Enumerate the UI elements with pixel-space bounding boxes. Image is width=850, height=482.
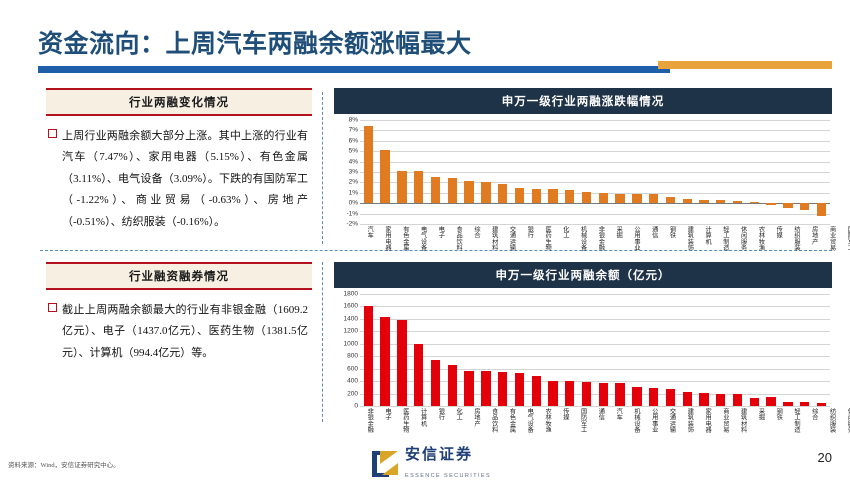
x-axis-tick: 商业贸易 xyxy=(716,408,734,456)
x-axis-tick-label: 交通运输 xyxy=(668,408,675,456)
x-axis-tick: 纺织服装 xyxy=(822,408,840,456)
bar-slot xyxy=(763,120,780,224)
bar xyxy=(683,392,692,406)
bar xyxy=(666,389,675,406)
bar-slot xyxy=(494,294,511,406)
bar xyxy=(532,189,541,203)
bar xyxy=(783,203,792,208)
bar-slot xyxy=(780,294,797,406)
square-bullet-icon xyxy=(48,129,62,233)
x-axis-tick: 轻工制造 xyxy=(787,408,805,456)
bar xyxy=(565,381,574,406)
bar xyxy=(414,344,423,406)
bar-slot xyxy=(578,120,595,224)
bar xyxy=(498,184,507,203)
y-axis-tick: 0% xyxy=(349,200,358,207)
y-axis-tick: 4% xyxy=(349,158,358,165)
y-axis-tick: 1% xyxy=(349,189,358,196)
chart-change-bars xyxy=(360,120,830,224)
bar-slot xyxy=(612,294,629,406)
bar xyxy=(548,381,557,406)
vertical-divider-top xyxy=(322,92,323,244)
bar xyxy=(817,403,826,406)
x-axis-tick: 传媒 xyxy=(556,408,574,456)
bar-slot xyxy=(679,294,696,406)
chart-balance: 申万一级行业两融余额（亿元） 1800160014001200100080060… xyxy=(334,262,832,456)
y-axis-tick: -1% xyxy=(346,210,358,217)
title-underline-blue xyxy=(38,66,670,73)
x-axis-tick-label: 有色金属 xyxy=(508,408,515,456)
x-axis-tick: 建筑材料 xyxy=(733,408,751,456)
bar-slot xyxy=(796,294,813,406)
bar-slot xyxy=(712,120,729,224)
slide-root: 资金流向：上周汽车两融余额涨幅最大 行业两融变化情况 上周行业两融余额大部分上涨… xyxy=(0,0,850,478)
x-axis-tick: 机械设备 xyxy=(627,408,645,456)
bar xyxy=(532,376,541,406)
bar-slot xyxy=(763,294,780,406)
bar-slot xyxy=(813,294,830,406)
x-axis-tick-label: 公用事业 xyxy=(650,408,657,456)
bar xyxy=(766,203,775,205)
bar-slot xyxy=(662,120,679,224)
vertical-divider-bottom xyxy=(322,262,323,422)
bar-slot xyxy=(360,120,377,224)
bar-slot xyxy=(394,294,411,406)
bar xyxy=(599,193,608,203)
bar xyxy=(683,199,692,203)
x-axis-tick-label: 家用电器 xyxy=(703,408,710,456)
x-axis-tick: 国防军工 xyxy=(573,408,591,456)
bar-slot xyxy=(696,120,713,224)
bar xyxy=(464,371,473,406)
chart-change-title: 申万一级行业两融涨跌幅情况 xyxy=(334,88,832,114)
bar-slot xyxy=(696,294,713,406)
chart-balance-title: 申万一级行业两融余额（亿元） xyxy=(334,262,832,288)
x-axis-tick-label: 通信 xyxy=(597,408,604,456)
bar-slot xyxy=(394,120,411,224)
bar xyxy=(632,387,641,406)
bar-slot xyxy=(410,294,427,406)
bar-slot xyxy=(780,120,797,224)
y-axis-tick: -2% xyxy=(346,221,358,228)
bar xyxy=(515,373,524,406)
page-title: 资金流向：上周汽车两融余额涨幅最大 xyxy=(38,24,472,60)
company-logo: 安信证券 ESSENCE SECURITIES xyxy=(372,446,491,482)
x-axis-tick-label: 农林牧渔 xyxy=(543,408,550,456)
bar-slot xyxy=(561,294,578,406)
bar xyxy=(582,192,591,203)
bar xyxy=(599,383,608,406)
chart-balance-yaxis: 180016001400120010008006004002000 xyxy=(334,294,360,406)
x-axis-tick-label: 国防军工 xyxy=(579,408,586,456)
bar-slot xyxy=(645,120,662,224)
x-axis-tick: 综合 xyxy=(805,408,823,456)
chart-change-plot: 8%7%6%5%4%3%2%1%0%-1%-2% xyxy=(334,120,832,224)
x-axis-tick-label: 休闲服务 xyxy=(846,408,850,456)
essence-logo-icon xyxy=(372,451,398,477)
x-axis-tick-label: 纺织服装 xyxy=(828,408,835,456)
x-axis-tick: 通信 xyxy=(591,408,609,456)
bar-slot xyxy=(662,294,679,406)
bar xyxy=(716,394,725,406)
bar-slot xyxy=(360,294,377,406)
bar-slot xyxy=(578,294,595,406)
y-axis-tick: 600 xyxy=(347,365,358,372)
bar xyxy=(716,200,725,203)
bar-slot xyxy=(511,294,528,406)
chart-balance-plot: 180016001400120010008006004002000 xyxy=(334,294,832,406)
bar-slot xyxy=(712,294,729,406)
bar xyxy=(632,194,641,203)
y-axis-tick: 1400 xyxy=(344,315,358,322)
x-axis-tick-label: 电气设备 xyxy=(526,408,533,456)
bar xyxy=(649,194,658,203)
bar xyxy=(481,182,490,203)
bar-slot xyxy=(729,120,746,224)
x-axis-tick-label: 采掘 xyxy=(757,408,764,456)
bar xyxy=(448,365,457,406)
bullet-item-change: 上周行业两融余额大部分上涨。其中上涨的行业有汽车（7.47%）、家用电器（5.1… xyxy=(46,126,312,233)
y-axis-tick: 3% xyxy=(349,169,358,176)
x-axis-tick-label: 建筑装饰 xyxy=(686,408,693,456)
bar-slot xyxy=(444,120,461,224)
bar-slot xyxy=(679,120,696,224)
bar xyxy=(364,126,373,204)
bar xyxy=(649,388,658,406)
title-underline-orange xyxy=(658,61,832,69)
bar xyxy=(548,189,557,203)
x-axis-tick-label: 轻工制造 xyxy=(792,408,799,456)
bar xyxy=(733,201,742,203)
bar-slot xyxy=(595,294,612,406)
panel-header-change: 行业两融变化情况 xyxy=(46,88,312,116)
chart-change: 申万一级行业两融涨跌幅情况 8%7%6%5%4%3%2%1%0%-1%-2% 汽… xyxy=(334,88,832,272)
bar-slot xyxy=(561,120,578,224)
panel-header-financing: 行业融资融券情况 xyxy=(46,262,312,290)
bar-slot xyxy=(796,120,813,224)
y-axis-tick: 1800 xyxy=(344,291,358,298)
bar-slot xyxy=(444,294,461,406)
bar-slot xyxy=(813,120,830,224)
x-axis-tick-label: 综合 xyxy=(810,408,817,456)
x-axis-tick: 农林牧渔 xyxy=(538,408,556,456)
logo-text: 安信证券 ESSENCE SECURITIES xyxy=(405,446,491,482)
bar-slot xyxy=(746,120,763,224)
bar xyxy=(380,150,389,204)
x-axis-tick: 汽车 xyxy=(609,408,627,456)
bar xyxy=(733,394,742,406)
bullet-item-financing: 截止上周两融余额最大的行业有非银金融（1609.2亿元）、电子（1437.0亿元… xyxy=(46,300,312,364)
bar xyxy=(699,393,708,406)
y-axis-tick: 8% xyxy=(349,117,358,124)
logo-name-cn: 安信证券 xyxy=(405,447,473,463)
y-axis-tick: 1200 xyxy=(344,328,358,335)
panel-industry-change: 行业两融变化情况 上周行业两融余额大部分上涨。其中上涨的行业有汽车（7.47%）… xyxy=(46,88,312,233)
bar xyxy=(750,398,759,406)
bar-slot xyxy=(377,294,394,406)
bar-slot xyxy=(461,120,478,224)
x-axis-tick: 电气设备 xyxy=(520,408,538,456)
bar xyxy=(750,202,759,203)
bar xyxy=(666,197,675,203)
bar xyxy=(515,188,524,203)
bar-slot xyxy=(729,294,746,406)
y-axis-tick: 1000 xyxy=(344,340,358,347)
chart-balance-bars xyxy=(360,294,830,406)
bar-slot xyxy=(645,294,662,406)
gridline xyxy=(360,224,830,225)
y-axis-tick: 5% xyxy=(349,148,358,155)
bar-slot xyxy=(746,294,763,406)
bar-slot xyxy=(410,120,427,224)
x-axis-tick: 建筑装饰 xyxy=(680,408,698,456)
bar-slot xyxy=(427,120,444,224)
x-axis-tick: 有色金属 xyxy=(502,408,520,456)
bar-slot xyxy=(545,120,562,224)
bar xyxy=(783,402,792,406)
bar-slot xyxy=(528,294,545,406)
bar xyxy=(448,178,457,203)
y-axis-tick: 6% xyxy=(349,137,358,144)
bar xyxy=(615,194,624,203)
bullet-text-change: 上周行业两融余额大部分上涨。其中上涨的行业有汽车（7.47%）、家用电器（5.1… xyxy=(62,126,308,233)
x-axis-tick-label: 国防军工 xyxy=(846,226,850,272)
bar-slot xyxy=(595,120,612,224)
bar xyxy=(481,371,490,406)
bar-slot xyxy=(494,120,511,224)
panel-industry-financing: 行业融资融券情况 截止上周两融余额最大的行业有非银金融（1609.2亿元）、电子… xyxy=(46,262,312,364)
page-number: 20 xyxy=(818,450,832,465)
y-axis-tick: 7% xyxy=(349,127,358,134)
x-axis-tick: 家用电器 xyxy=(698,408,716,456)
bar xyxy=(582,382,591,406)
bar xyxy=(800,402,809,406)
y-axis-tick: 400 xyxy=(347,378,358,385)
x-axis-tick-label: 建筑材料 xyxy=(739,408,746,456)
bar-slot xyxy=(477,120,494,224)
x-axis-tick: 休闲服务 xyxy=(840,408,850,456)
bar-slot xyxy=(612,120,629,224)
chart-change-yaxis: 8%7%6%5%4%3%2%1%0%-1%-2% xyxy=(334,120,360,224)
x-axis-tick: 钢铁 xyxy=(769,408,787,456)
square-bullet-icon xyxy=(48,303,62,364)
bar xyxy=(414,171,423,203)
y-axis-tick: 200 xyxy=(347,390,358,397)
bar-slot xyxy=(511,120,528,224)
bar-slot xyxy=(629,120,646,224)
bar xyxy=(431,360,440,406)
y-axis-tick: 1600 xyxy=(344,303,358,310)
x-axis-tick-label: 汽车 xyxy=(614,408,621,456)
bar-slot xyxy=(427,294,444,406)
bar xyxy=(380,317,389,406)
source-note: 资料来源：Wind，安信证券研究中心。 xyxy=(8,459,120,469)
bar xyxy=(615,383,624,406)
x-axis-tick-label: 传媒 xyxy=(561,408,568,456)
x-axis-tick-label: 钢铁 xyxy=(775,408,782,456)
bar-slot xyxy=(477,294,494,406)
bar xyxy=(498,372,507,406)
bar xyxy=(464,181,473,203)
y-axis-tick: 2% xyxy=(349,179,358,186)
x-axis-tick: 公用事业 xyxy=(645,408,663,456)
y-axis-tick: 0 xyxy=(354,403,358,410)
bar xyxy=(565,190,574,204)
bar xyxy=(699,200,708,203)
bar-slot xyxy=(461,294,478,406)
bar-slot xyxy=(528,120,545,224)
bar xyxy=(364,306,373,406)
bar xyxy=(431,177,440,204)
bar-slot xyxy=(377,120,394,224)
x-axis-tick-label: 商业贸易 xyxy=(721,408,728,456)
x-axis-tick: 交通运输 xyxy=(662,408,680,456)
bar xyxy=(817,203,826,216)
bar xyxy=(397,171,406,203)
bar-slot xyxy=(545,294,562,406)
logo-name-en: ESSENCE SECURITIES xyxy=(405,473,491,479)
x-axis-tick-label: 机械设备 xyxy=(632,408,639,456)
bar-slot xyxy=(629,294,646,406)
bar xyxy=(397,320,406,406)
x-axis-tick: 国防军工 xyxy=(840,226,850,272)
gridline xyxy=(360,406,830,407)
x-axis-tick: 采掘 xyxy=(751,408,769,456)
y-axis-tick: 800 xyxy=(347,353,358,360)
bullet-text-financing: 截止上周两融余额最大的行业有非银金融（1609.2亿元）、电子（1437.0亿元… xyxy=(62,300,308,364)
bar xyxy=(766,397,775,406)
bar xyxy=(800,203,809,210)
